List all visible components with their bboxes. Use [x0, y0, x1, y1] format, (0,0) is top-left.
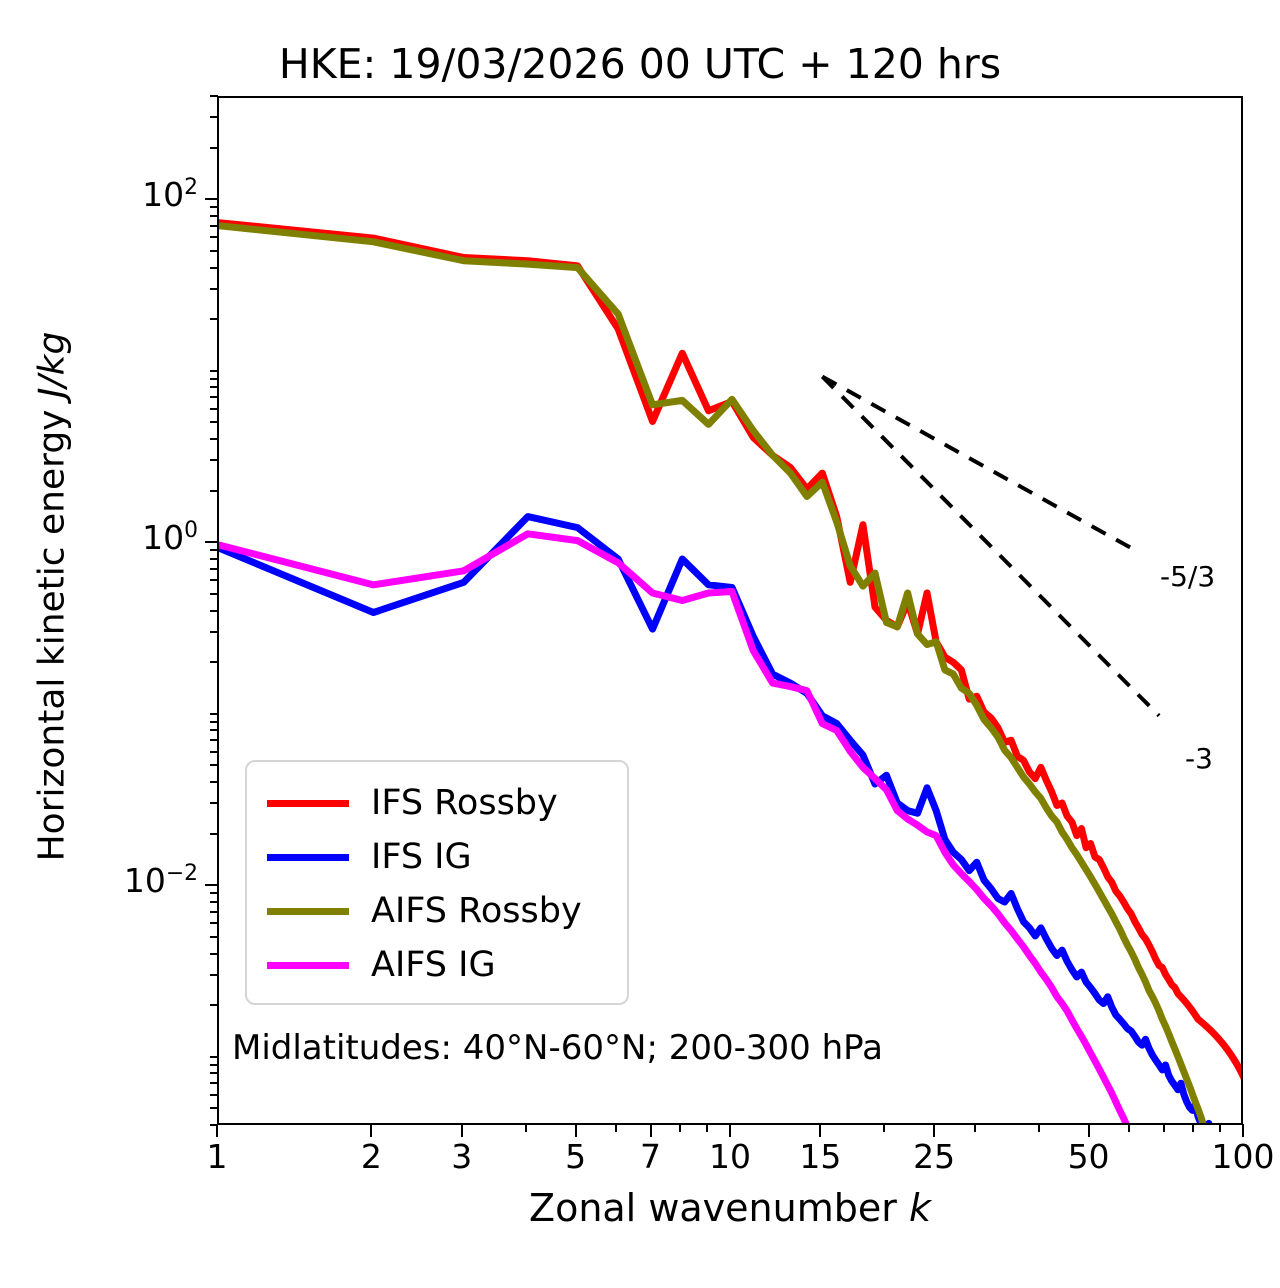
y-tick-minor: [210, 610, 218, 612]
x-tick-major: [370, 1124, 372, 1137]
x-tick-minor: [615, 1124, 617, 1132]
y-tick-minor: [210, 116, 218, 118]
x-tick-minor: [525, 1124, 527, 1132]
slope-label--5-3: -5/3: [1160, 560, 1215, 593]
x-tick-major: [933, 1124, 935, 1137]
y-axis-unit: J/kg: [32, 332, 73, 398]
y-tick-exponent: 2: [184, 175, 198, 200]
x-tick-major: [1242, 1124, 1244, 1137]
y-tick-minor: [210, 751, 218, 753]
y-tick-minor: [210, 911, 218, 913]
legend-color-swatch: [267, 962, 349, 969]
y-tick-minor: [210, 1124, 218, 1126]
y-tick-minor: [210, 802, 218, 804]
reference-slope-lines: [822, 377, 1159, 716]
reference-slope--5-3: [822, 377, 1138, 553]
y-tick-base: 10: [142, 518, 184, 557]
y-tick-minor: [210, 267, 218, 269]
y-tick-minor: [210, 1082, 218, 1084]
legend-label: IFS Rossby: [371, 783, 558, 823]
y-tick-major: [205, 198, 218, 200]
chart-root: HKE: 19/03/2026 00 UTC + 120 hrs Horizon…: [0, 0, 1280, 1288]
page-title: HKE: 19/03/2026 00 UTC + 120 hrs: [0, 40, 1280, 88]
legend-label: AIFS Rossby: [371, 891, 582, 931]
x-tick-major: [729, 1124, 731, 1137]
y-tick-minor: [210, 833, 218, 835]
y-tick-minor: [210, 974, 218, 976]
y-tick-minor: [210, 568, 218, 570]
y-tick-minor: [210, 318, 218, 320]
legend-color-swatch: [267, 908, 349, 915]
y-tick-minor: [210, 739, 218, 741]
y-tick-minor: [210, 593, 218, 595]
y-tick-minor: [210, 421, 218, 423]
x-tick-minor: [1038, 1124, 1040, 1132]
y-tick-base: 10: [142, 175, 184, 214]
region-annotation: Midlatitudes: 40°N-60°N; 200-300 hPa: [232, 1028, 883, 1068]
y-tick-minor: [210, 236, 218, 238]
y-tick-minor: [210, 206, 218, 208]
x-tick-minor: [974, 1124, 976, 1132]
slope-label--3: -3: [1185, 742, 1213, 775]
y-tick-minor: [210, 370, 218, 372]
x-tick-minor: [1128, 1124, 1130, 1132]
y-tick-minor: [210, 250, 218, 252]
y-tick-minor: [210, 558, 218, 560]
x-tick-major: [819, 1124, 821, 1137]
y-tick-minor: [210, 721, 218, 723]
y-tick-minor: [210, 781, 218, 783]
x-tick-label: 50: [1029, 1137, 1149, 1176]
y-axis-label: Horizontal kinetic energy J/kg: [32, 147, 73, 1047]
y-tick-minor: [210, 408, 218, 410]
y-axis-label-text: Horizontal kinetic energy: [32, 398, 73, 861]
x-tick-major: [1088, 1124, 1090, 1137]
y-tick-minor: [210, 936, 218, 938]
y-tick-minor: [210, 378, 218, 380]
y-tick-minor: [210, 922, 218, 924]
y-tick-minor: [210, 892, 218, 894]
y-tick-major: [205, 541, 218, 543]
x-tick-label: 3: [402, 1137, 522, 1176]
y-tick-minor: [210, 901, 218, 903]
y-tick-minor: [210, 631, 218, 633]
x-tick-major: [461, 1124, 463, 1137]
x-tick-minor: [883, 1124, 885, 1132]
y-tick-minor: [210, 459, 218, 461]
x-tick-label: 25: [874, 1137, 994, 1176]
y-tick-exponent: −2: [166, 861, 198, 886]
y-tick-exponent: 0: [184, 518, 198, 543]
y-tick-minor: [210, 764, 218, 766]
x-axis-label-text: Zonal wavenumber: [529, 1186, 909, 1230]
y-tick-minor: [210, 713, 218, 715]
x-tick-minor: [1219, 1124, 1221, 1132]
y-tick-minor: [210, 729, 218, 731]
reference-slope--3: [822, 377, 1159, 716]
y-tick-minor: [210, 661, 218, 663]
y-tick-minor: [210, 549, 218, 551]
y-tick-base: 10: [124, 861, 166, 900]
legend-color-swatch: [267, 854, 349, 861]
x-tick-label: 15: [760, 1137, 880, 1176]
x-tick-minor: [706, 1124, 708, 1132]
y-tick-label: 100: [0, 518, 198, 557]
y-tick-minor: [210, 953, 218, 955]
x-tick-label: 100: [1183, 1137, 1280, 1176]
y-tick-minor: [210, 1072, 218, 1074]
y-tick-minor: [210, 147, 218, 149]
y-tick-minor: [210, 288, 218, 290]
x-axis-variable: k: [909, 1186, 931, 1230]
y-tick-major: [205, 884, 218, 886]
y-tick-label: 10−2: [0, 861, 198, 900]
y-tick-minor: [210, 1094, 218, 1096]
x-tick-minor: [1192, 1124, 1194, 1132]
legend-label: AIFS IG: [371, 945, 496, 985]
x-tick-label: 1: [157, 1137, 277, 1176]
y-tick-label: 102: [0, 175, 198, 214]
x-tick-major: [575, 1124, 577, 1137]
y-tick-minor: [210, 490, 218, 492]
legend-item-aifs-ig[interactable]: AIFS IG: [247, 938, 627, 992]
legend-color-swatch: [267, 800, 349, 807]
y-tick-minor: [210, 225, 218, 227]
y-tick-minor: [210, 1056, 218, 1058]
x-axis-label: Zonal wavenumber k: [217, 1186, 1243, 1230]
legend-item-ifs-ig[interactable]: IFS IG: [247, 830, 627, 884]
y-tick-minor: [210, 1064, 218, 1066]
y-tick-minor: [210, 438, 218, 440]
y-tick-minor: [210, 215, 218, 217]
y-tick-minor: [210, 396, 218, 398]
legend: IFS RossbyIFS IGAIFS RossbyAIFS IG: [245, 760, 629, 1005]
y-tick-minor: [210, 95, 218, 97]
y-tick-minor: [210, 1004, 218, 1006]
legend-item-aifs-rossby[interactable]: AIFS Rossby: [247, 884, 627, 938]
y-tick-minor: [210, 386, 218, 388]
x-tick-minor: [1163, 1124, 1165, 1132]
y-tick-minor: [210, 579, 218, 581]
legend-label: IFS IG: [371, 837, 472, 877]
y-tick-minor: [210, 1107, 218, 1109]
x-tick-minor: [679, 1124, 681, 1132]
x-tick-major: [650, 1124, 652, 1137]
legend-item-ifs-rossby[interactable]: IFS Rossby: [247, 776, 627, 830]
